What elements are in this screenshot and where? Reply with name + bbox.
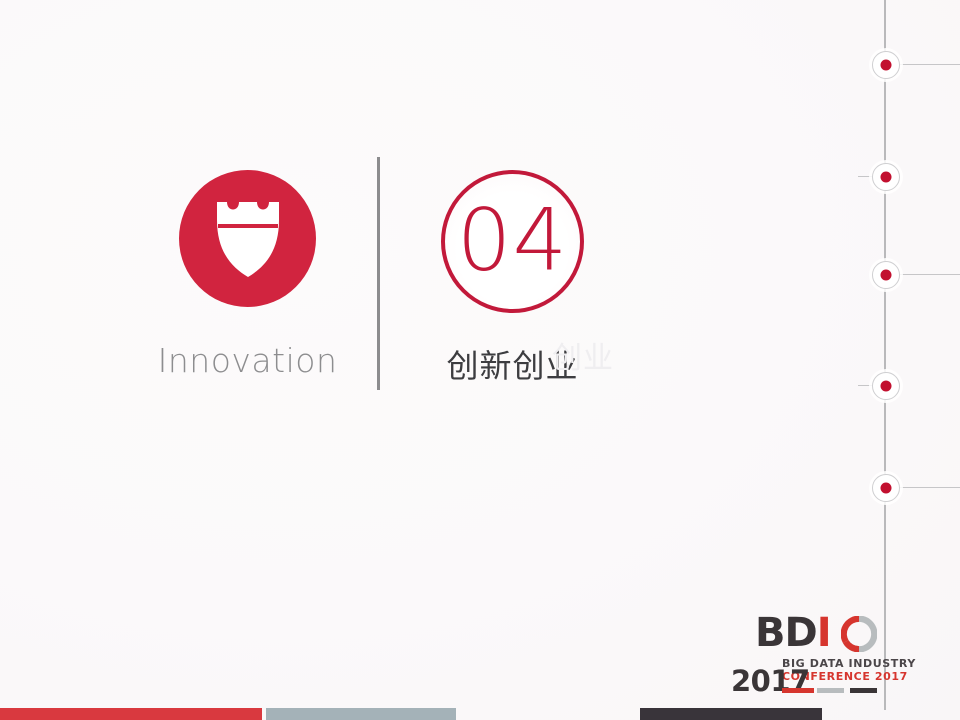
timeline-connector bbox=[899, 64, 960, 65]
crown-shield-icon bbox=[213, 198, 283, 280]
logo-wordmark: BDI bbox=[755, 612, 831, 654]
bottom-bar-red bbox=[0, 708, 262, 720]
section-title-cn: 创新创业 创业 bbox=[405, 341, 620, 387]
timeline-node-dot bbox=[881, 483, 892, 494]
section-number-block: 04 创新创业 创业 bbox=[405, 170, 620, 387]
number-circle-outline: 04 bbox=[441, 170, 584, 313]
logo-i-text: I bbox=[817, 610, 831, 656]
timeline-node-dot bbox=[881, 270, 892, 281]
section-number: 04 bbox=[457, 197, 568, 283]
timeline-node-dot bbox=[881, 60, 892, 71]
timeline-node[interactable] bbox=[872, 261, 900, 289]
timeline-node-dot bbox=[881, 172, 892, 183]
timeline-rail bbox=[884, 0, 886, 710]
timeline-node-dot bbox=[881, 381, 892, 392]
timeline-node[interactable] bbox=[872, 51, 900, 79]
slide-canvas: Innovation 04 创新创业 创业 BDI BIG DATA INDUS… bbox=[0, 0, 960, 720]
bdic-conference-logo: BDI BIG DATA INDUSTRY CONFERENCE 2017 20… bbox=[733, 612, 883, 704]
logo-rule-red bbox=[782, 688, 814, 693]
logo-rule-dark bbox=[850, 688, 877, 693]
timeline-connector bbox=[858, 176, 872, 177]
timeline-node[interactable] bbox=[872, 163, 900, 191]
section-title-cn-text: 创新创业 bbox=[446, 347, 578, 385]
timeline-node[interactable] bbox=[872, 372, 900, 400]
logo-bd-text: BD bbox=[755, 610, 817, 656]
icon-circle-badge bbox=[179, 170, 316, 307]
timeline-connector bbox=[899, 274, 960, 275]
timeline-connector bbox=[858, 385, 872, 386]
c-ring-icon bbox=[841, 616, 877, 652]
section-divider bbox=[377, 157, 380, 390]
timeline-connector bbox=[899, 487, 960, 488]
innovation-label: Innovation bbox=[140, 341, 355, 380]
timeline-node[interactable] bbox=[872, 474, 900, 502]
bottom-bar-dark bbox=[640, 708, 822, 720]
logo-rule-gray bbox=[817, 688, 844, 693]
innovation-block: Innovation bbox=[140, 170, 355, 380]
bottom-bar-gray bbox=[266, 708, 456, 720]
